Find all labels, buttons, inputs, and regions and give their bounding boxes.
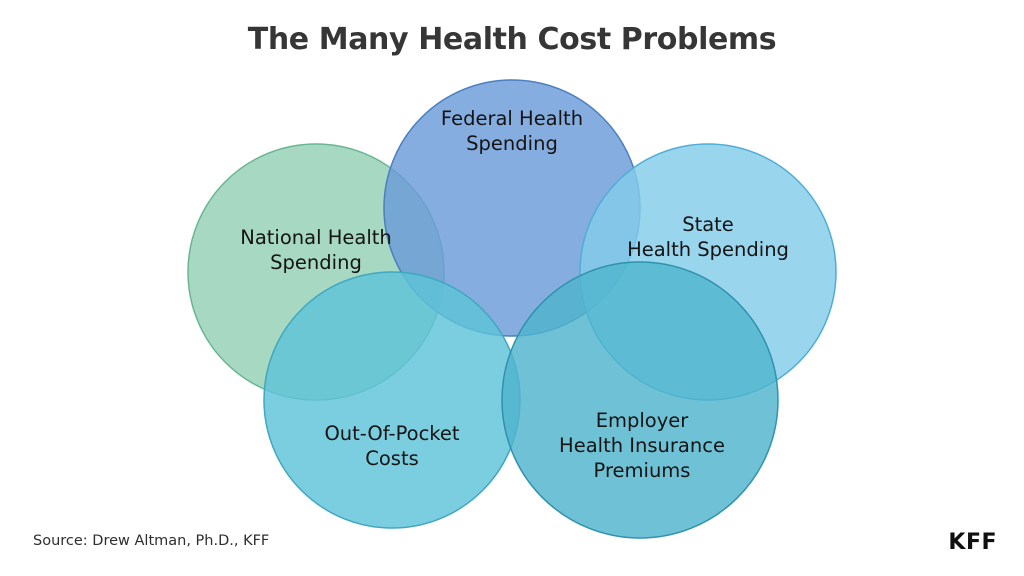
venn-svg: [0, 0, 1024, 576]
venn-circle-employer[interactable]: [502, 262, 778, 538]
kff-logo: KFF: [948, 530, 997, 555]
venn-diagram: National Health Spending Federal Health …: [0, 0, 1024, 576]
venn-circle-out-of-pocket[interactable]: [264, 272, 520, 528]
slide-canvas: The Many Health Cost Problems National H…: [0, 0, 1024, 576]
source-note: Source: Drew Altman, Ph.D., KFF: [33, 533, 269, 549]
